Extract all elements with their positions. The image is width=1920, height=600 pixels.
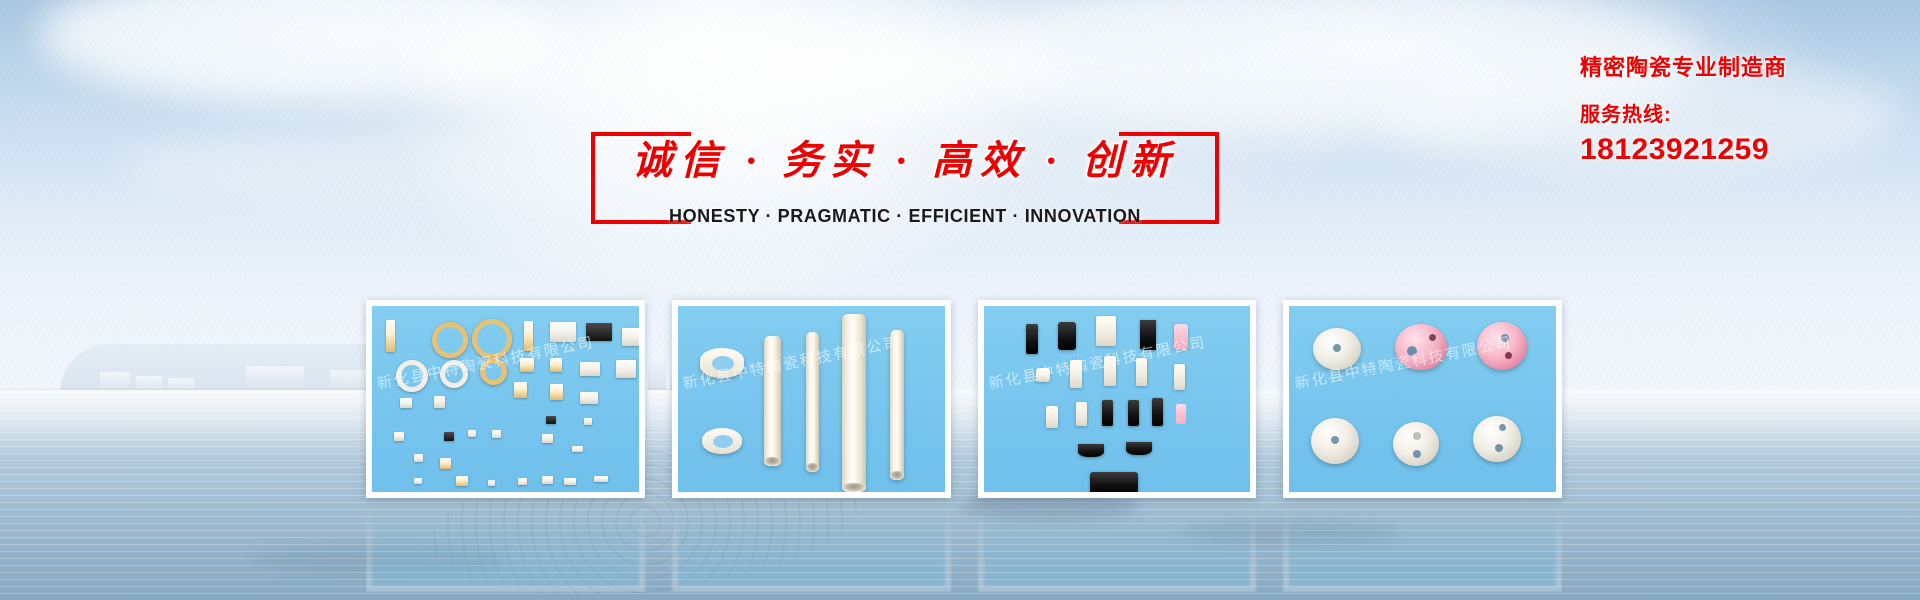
panel-image: 新化县中特陶瓷科技有限公司 xyxy=(372,306,639,492)
panel-image: 新化县中特陶瓷科技有限公司 xyxy=(984,306,1251,492)
panel-ceramic-blocks-parts[interactable]: 新化县中特陶瓷科技有限公司 xyxy=(978,300,1257,498)
hotline-label: 服务热线: xyxy=(1580,98,1910,127)
banner-stage: 诚信 · 务实 · 高效 · 创新 HONESTY · PRAGMATIC · … xyxy=(0,0,1920,600)
panel-image: 新化县中特陶瓷科技有限公司 xyxy=(678,306,945,492)
panel-reflection xyxy=(978,500,1257,592)
slogan-block: 诚信 · 务实 · 高效 · 创新 HONESTY · PRAGMATIC · … xyxy=(565,132,1245,228)
panel-ceramic-tubes-rings[interactable]: 新化县中特陶瓷科技有限公司 xyxy=(672,300,951,498)
contact-block: 精密陶瓷专业制造商 服务热线: 18123921259 xyxy=(1580,50,1910,167)
panel-smd-ceramic-components[interactable]: 新化县中特陶瓷科技有限公司 xyxy=(366,300,645,498)
slogan-chinese: 诚信 · 务实 · 高效 · 创新 xyxy=(565,128,1245,186)
hotline-number[interactable]: 18123921259 xyxy=(1580,133,1910,167)
panel-reflection xyxy=(366,500,645,592)
panel-reflections xyxy=(366,500,1562,592)
panel-image: 新化县中特陶瓷科技有限公司 xyxy=(1289,306,1556,492)
panel-reflection xyxy=(672,500,951,592)
panel-ceramic-discs-caps[interactable]: 新化县中特陶瓷科技有限公司 xyxy=(1283,300,1562,498)
panel-reflection xyxy=(1283,500,1562,592)
company-tagline: 精密陶瓷专业制造商 xyxy=(1580,50,1910,82)
slogan-english: HONESTY · PRAGMATIC · EFFICIENT · INNOVA… xyxy=(565,206,1245,227)
product-panel-row: 新化县中特陶瓷科技有限公司 新化县中特陶瓷科技有限公司 xyxy=(366,300,1562,498)
